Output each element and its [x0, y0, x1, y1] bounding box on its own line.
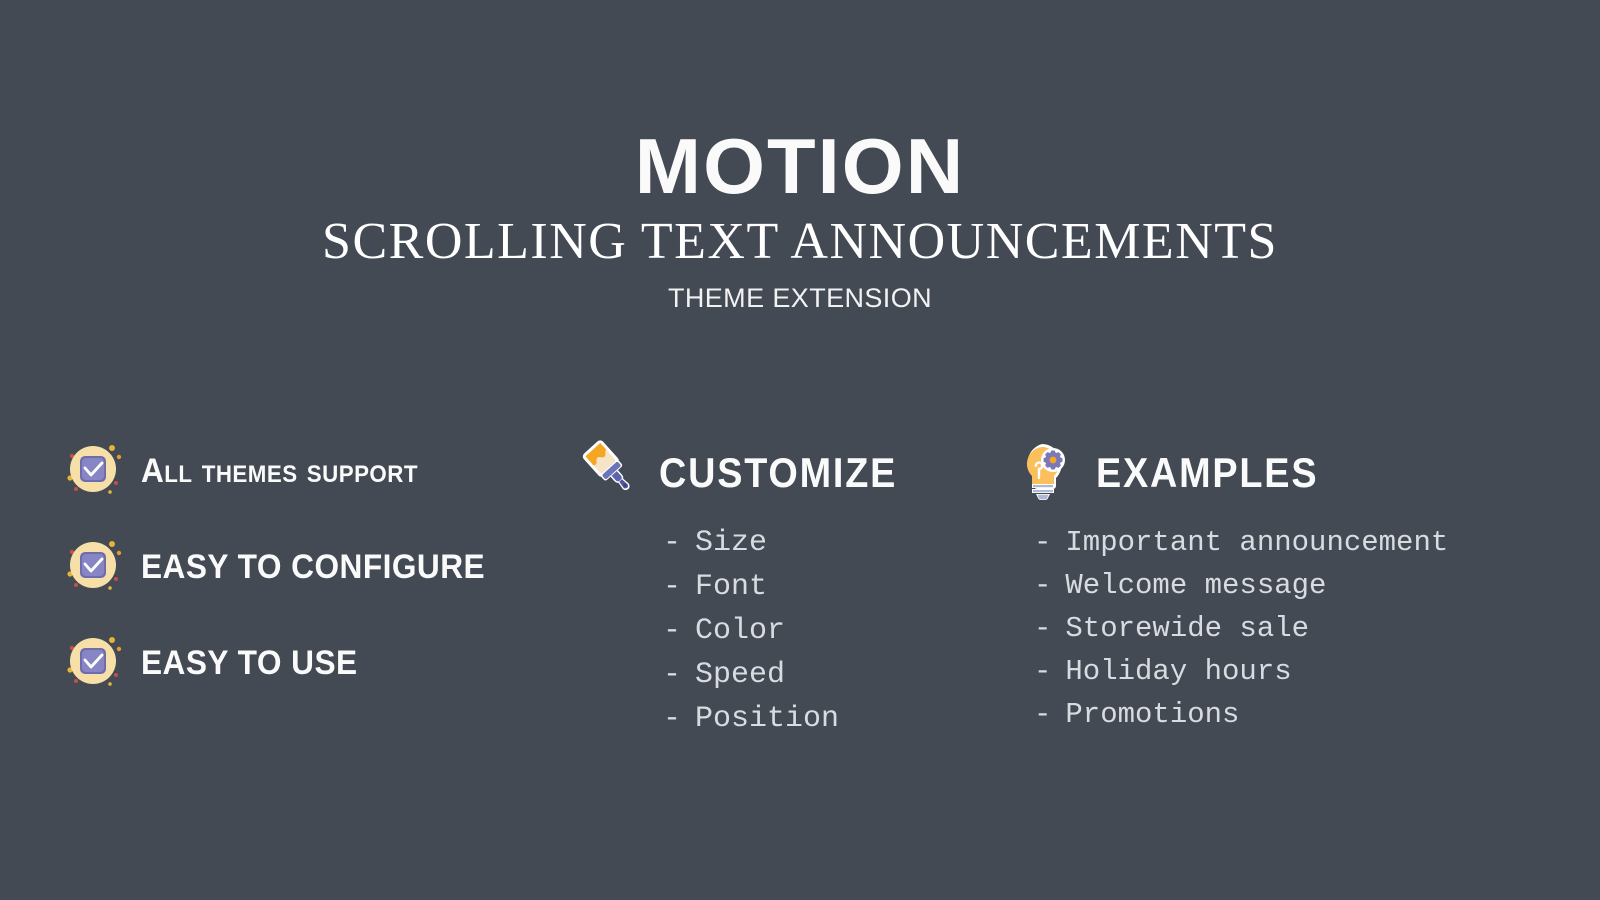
feature-label: All themes support	[141, 452, 418, 491]
list-item-label: Important announcement	[1065, 526, 1448, 559]
list-item: -Important announcement	[1034, 528, 1572, 557]
bullet-dash: -	[663, 658, 681, 692]
list-item: EASY TO CONFIGURE	[62, 536, 562, 598]
list-item: All themes support	[62, 440, 562, 502]
page-title: MOTION	[0, 127, 1600, 205]
examples-header: EXAMPLES	[1012, 440, 1572, 506]
checkbox-icon	[62, 438, 124, 505]
list-item: -Font	[663, 572, 995, 602]
bullet-dash: -	[1034, 655, 1051, 688]
examples-column: EXAMPLES -Important announcement -Welcom…	[1012, 440, 1572, 743]
list-item: -Promotions	[1034, 700, 1572, 729]
bullet-dash: -	[1034, 698, 1051, 731]
features-column: All themes support	[62, 440, 562, 728]
list-item: -Welcome message	[1034, 571, 1572, 600]
bullet-dash: -	[663, 614, 681, 648]
header: MOTION SCROLLING TEXT ANNOUNCEMENTS THEM…	[0, 0, 1600, 312]
list-item-label: Promotions	[1065, 698, 1239, 731]
checkbox-icon	[62, 630, 124, 697]
list-item-label: Storewide sale	[1065, 612, 1309, 645]
customize-title: CUSTOMIZE	[659, 449, 897, 497]
feature-label: EASY TO USE	[141, 644, 358, 683]
list-item-label: Font	[695, 570, 767, 604]
list-item: -Color	[663, 616, 995, 646]
list-item-label: Welcome message	[1065, 569, 1326, 602]
examples-list: -Important announcement -Welcome message…	[1034, 528, 1572, 729]
page-subtitle: SCROLLING TEXT ANNOUNCEMENTS	[0, 216, 1600, 268]
list-item: -Position	[663, 704, 995, 734]
list-item-label: Position	[695, 702, 839, 736]
customize-column: CUSTOMIZE -Size -Font -Color -Speed -Pos…	[575, 440, 995, 748]
list-item: -Holiday hours	[1034, 657, 1572, 686]
examples-title: EXAMPLES	[1096, 449, 1318, 497]
customize-header: CUSTOMIZE	[575, 440, 995, 506]
checkbox-icon	[62, 534, 124, 601]
customize-list: -Size -Font -Color -Speed -Position	[663, 528, 995, 734]
bullet-dash: -	[663, 526, 681, 560]
list-item: EASY TO USE	[62, 632, 562, 694]
list-item-label: Holiday hours	[1065, 655, 1291, 688]
page-tagline: THEME EXTENSION	[0, 285, 1600, 312]
list-item: -Speed	[663, 660, 995, 690]
bullet-dash: -	[663, 570, 681, 604]
bullet-dash: -	[1034, 569, 1051, 602]
list-item: -Storewide sale	[1034, 614, 1572, 643]
list-item-label: Size	[695, 526, 767, 560]
list-item-label: Speed	[695, 658, 785, 692]
content-columns: All themes support	[0, 440, 1600, 860]
list-item-label: Color	[695, 614, 785, 648]
bullet-dash: -	[1034, 612, 1051, 645]
lightbulb-gear-icon	[1012, 438, 1078, 509]
paintbrush-icon	[575, 438, 641, 509]
bullet-dash: -	[663, 702, 681, 736]
slide-root: MOTION SCROLLING TEXT ANNOUNCEMENTS THEM…	[0, 0, 1600, 900]
feature-label: EASY TO CONFIGURE	[141, 548, 485, 587]
list-item: -Size	[663, 528, 995, 558]
bullet-dash: -	[1034, 526, 1051, 559]
